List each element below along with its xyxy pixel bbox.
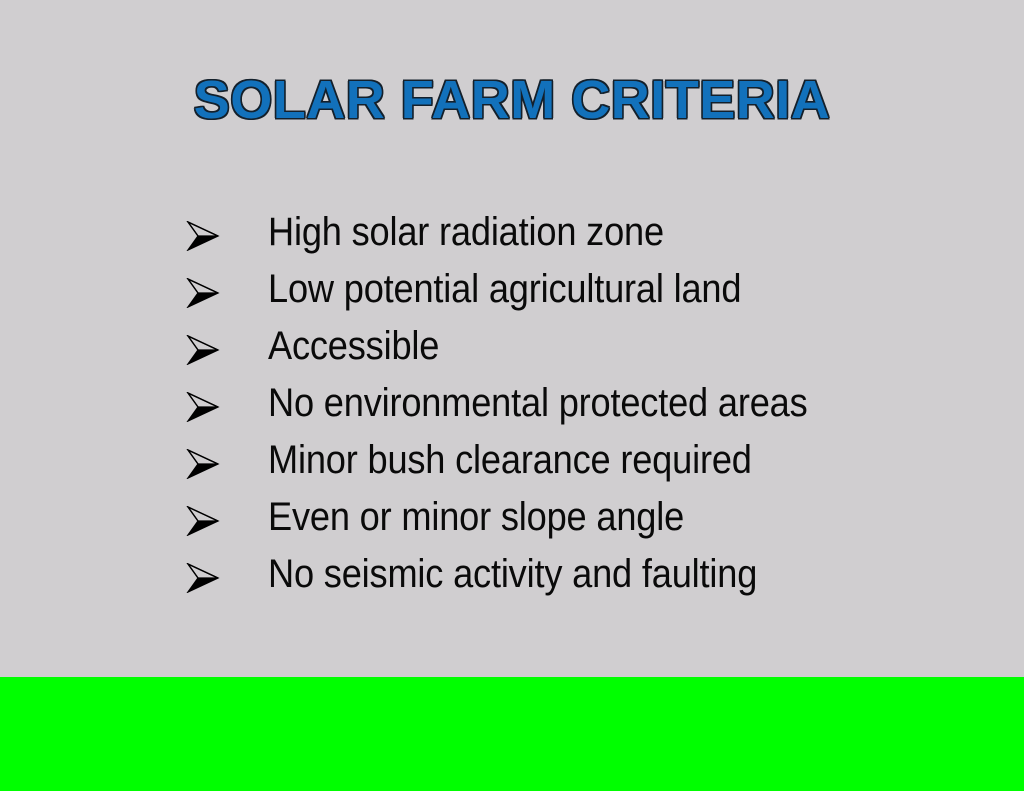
list-item: Low potential agricultural land — [186, 269, 976, 326]
list-item-label: Accessible — [268, 326, 439, 366]
list-item-label: No seismic activity and faulting — [268, 554, 757, 594]
arrowhead-bullet-icon — [186, 269, 268, 308]
list-item-label: Minor bush clearance required — [268, 440, 752, 480]
arrowhead-bullet-icon — [186, 554, 268, 593]
arrowhead-bullet-icon — [186, 212, 268, 251]
list-item: Accessible — [186, 326, 976, 383]
title-block: SOLAR FARM CRITERIA — [0, 72, 1024, 129]
presentation-slide: SOLAR FARM CRITERIA High solar radiation… — [0, 0, 1024, 791]
list-item-label: No environmental protected areas — [268, 383, 808, 423]
list-item: No environmental protected areas — [186, 383, 976, 440]
list-item-label: High solar radiation zone — [268, 212, 664, 252]
arrowhead-bullet-icon — [186, 326, 268, 365]
criteria-list: High solar radiation zone Low potential … — [186, 212, 976, 611]
arrowhead-bullet-icon — [186, 497, 268, 536]
list-item: No seismic activity and faulting — [186, 554, 976, 611]
page-title: SOLAR FARM CRITERIA — [194, 72, 831, 129]
list-item-label: Even or minor slope angle — [268, 497, 684, 537]
footer-band — [0, 677, 1024, 791]
arrowhead-bullet-icon — [186, 383, 268, 422]
list-item: Minor bush clearance required — [186, 440, 976, 497]
list-item-label: Low potential agricultural land — [268, 269, 741, 309]
list-item: Even or minor slope angle — [186, 497, 976, 554]
list-item: High solar radiation zone — [186, 212, 976, 269]
arrowhead-bullet-icon — [186, 440, 268, 479]
